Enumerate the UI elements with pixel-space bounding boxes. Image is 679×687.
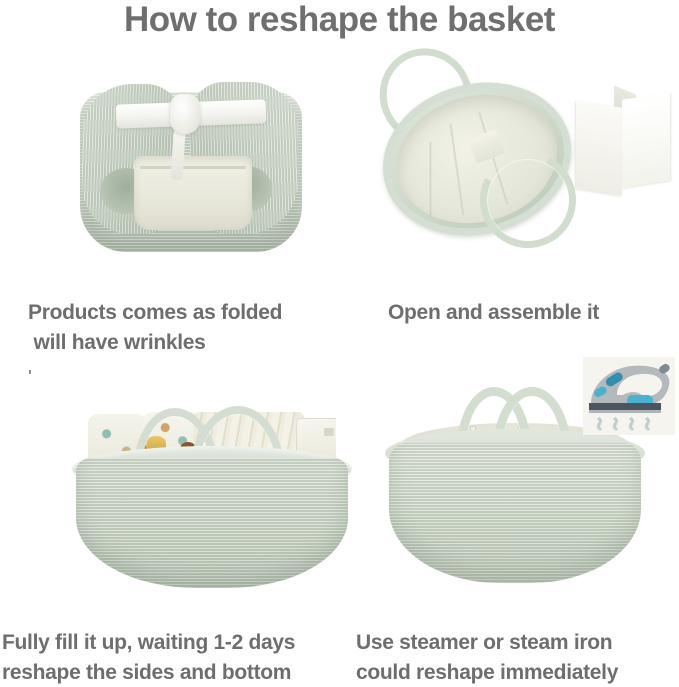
step-2-image-open-basket: [372, 42, 672, 257]
page-title: How to reshape the basket: [0, 0, 679, 44]
rolled-basket-liner: [134, 156, 252, 230]
step-3-image-filled-basket: [62, 402, 362, 600]
step-4-caption: Use steamer or steam iron could reshape …: [356, 628, 618, 687]
liner-fold: [449, 123, 464, 214]
ribbon-knot: [170, 94, 200, 134]
liner-tab: [467, 129, 505, 164]
stray-apostrophe-mark: ': [28, 368, 32, 386]
liner-fold: [429, 142, 431, 216]
filled-basket-body: [76, 458, 348, 588]
empty-basket-body: [389, 443, 641, 583]
step-1-image-rolled-basket: [72, 72, 310, 262]
steam-iron-icon: [583, 357, 675, 435]
divider-panel-right: [622, 92, 670, 188]
divider-panel-left: [576, 100, 622, 195]
content-wipes-tab: [324, 428, 334, 436]
step-3-caption: Fully fill it up, waiting 1-2 days resha…: [2, 628, 295, 687]
step-2-caption: Open and assemble it: [388, 298, 599, 328]
divider-insert: [576, 90, 670, 198]
step-1-caption: Products comes as folded will have wrink…: [28, 298, 282, 358]
infographic-page: How to reshape the basket: [0, 0, 679, 687]
